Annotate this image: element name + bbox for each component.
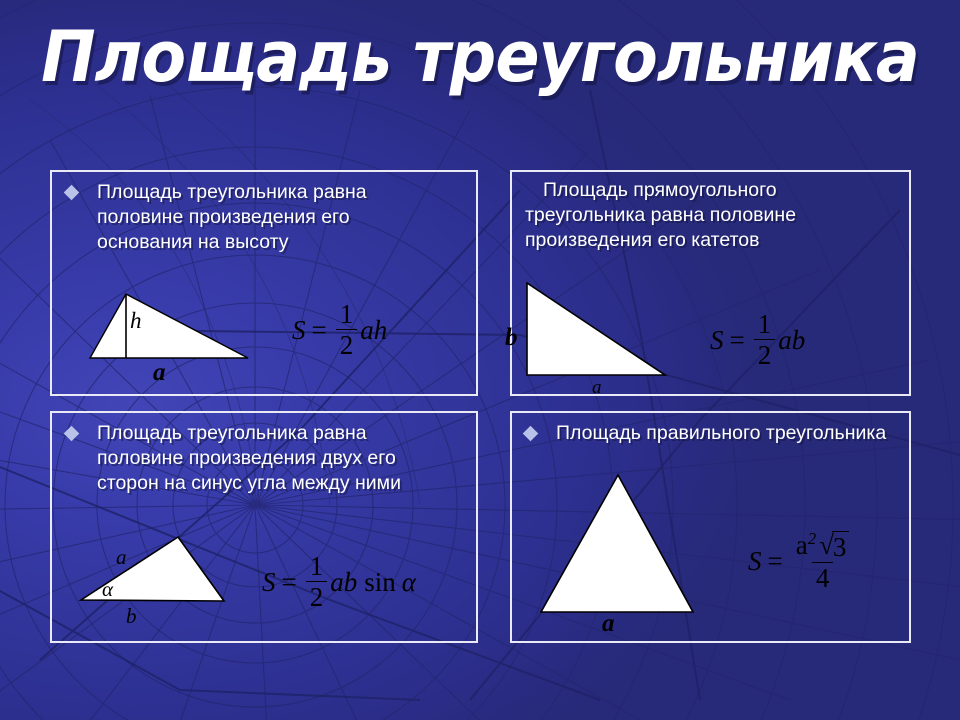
numerator-exponent-2: 2 [808, 529, 816, 548]
bullet-diamond-icon [64, 426, 80, 442]
label-height-h: h [130, 309, 142, 332]
formula-rhs: ah [360, 315, 387, 345]
label-base-a: a [153, 361, 166, 384]
panel-text-bottom-right: Площадь правильного треугольника [556, 421, 905, 446]
formula-angle-alpha: α [402, 567, 416, 597]
formula-equals: = [768, 546, 783, 576]
label-side-a: a [602, 612, 615, 635]
fraction-numerator: 1 [754, 310, 776, 339]
radicand-3: 3 [832, 531, 850, 561]
fraction-numerator: 1 [306, 552, 328, 581]
formula-top-left: S = 1 2 ah [292, 300, 387, 360]
bullet-row-top-right: Площадь прямоугольного треугольника равн… [525, 178, 905, 253]
formula-sin-function: sin [364, 567, 396, 597]
fraction-denominator: 4 [812, 562, 834, 592]
fraction-denominator: 2 [336, 329, 358, 359]
formula-equals: = [312, 315, 327, 345]
triangle-shape [90, 294, 248, 358]
panel-text-top-right: Площадь прямоугольного треугольника равн… [525, 178, 897, 253]
bullet-row-bottom-left: Площадь треугольника равна половине прои… [66, 421, 471, 496]
fraction-one-half: 1 2 [754, 310, 776, 370]
bullet-diamond-icon [523, 426, 539, 442]
label-angle-alpha: α [102, 578, 113, 601]
formula-lhs: S [262, 567, 276, 597]
figure-right-triangle [518, 275, 683, 385]
bullet-row-top-left: Площадь треугольника равна половине прои… [66, 180, 466, 255]
fraction-denominator: 2 [754, 339, 776, 369]
formula-bottom-right: S = a2√3 4 [748, 530, 856, 593]
formula-top-right: S = 1 2 ab [710, 310, 805, 370]
fraction-numerator: a2√3 [792, 530, 854, 562]
formula-lhs: S [292, 315, 306, 345]
figure-equilateral-triangle [532, 468, 707, 620]
formula-lhs: S [710, 325, 724, 355]
fraction-denominator: 2 [306, 581, 328, 611]
numerator-base-a: a [796, 530, 808, 560]
fraction-area-expression: a2√3 4 [792, 530, 854, 593]
fraction-numerator: 1 [336, 300, 358, 329]
slide-title: Площадь треугольника [34, 14, 927, 100]
label-leg-a: a [592, 376, 602, 399]
bullet-diamond-icon [64, 185, 80, 201]
panel-text-bottom-left: Площадь треугольника равна половине прои… [97, 421, 457, 496]
formula-equals: = [730, 325, 745, 355]
formula-rhs: ab [778, 325, 805, 355]
label-side-a: a [116, 546, 127, 569]
formula-equals: = [282, 567, 297, 597]
square-root-icon: √3 [819, 531, 849, 561]
figure-oblique-triangle-with-angle [72, 530, 247, 615]
fraction-one-half: 1 2 [306, 552, 328, 612]
label-leg-b: b [505, 326, 518, 349]
triangle-shape [541, 475, 693, 612]
formula-lhs: S [748, 546, 762, 576]
formula-rhs: ab [330, 567, 357, 597]
triangle-shape [527, 283, 665, 375]
panel-text-top-left: Площадь треугольника равна половине прои… [97, 180, 449, 255]
figure-scalene-triangle-with-height [78, 288, 268, 368]
bullet-row-bottom-right: Площадь правильного треугольника [525, 421, 905, 446]
slide-canvas: Площадь треугольника Площадь треугольник… [0, 0, 960, 720]
fraction-one-half: 1 2 [336, 300, 358, 360]
formula-bottom-left: S = 1 2 ab sin α [262, 552, 416, 612]
label-side-b: b [126, 605, 137, 628]
